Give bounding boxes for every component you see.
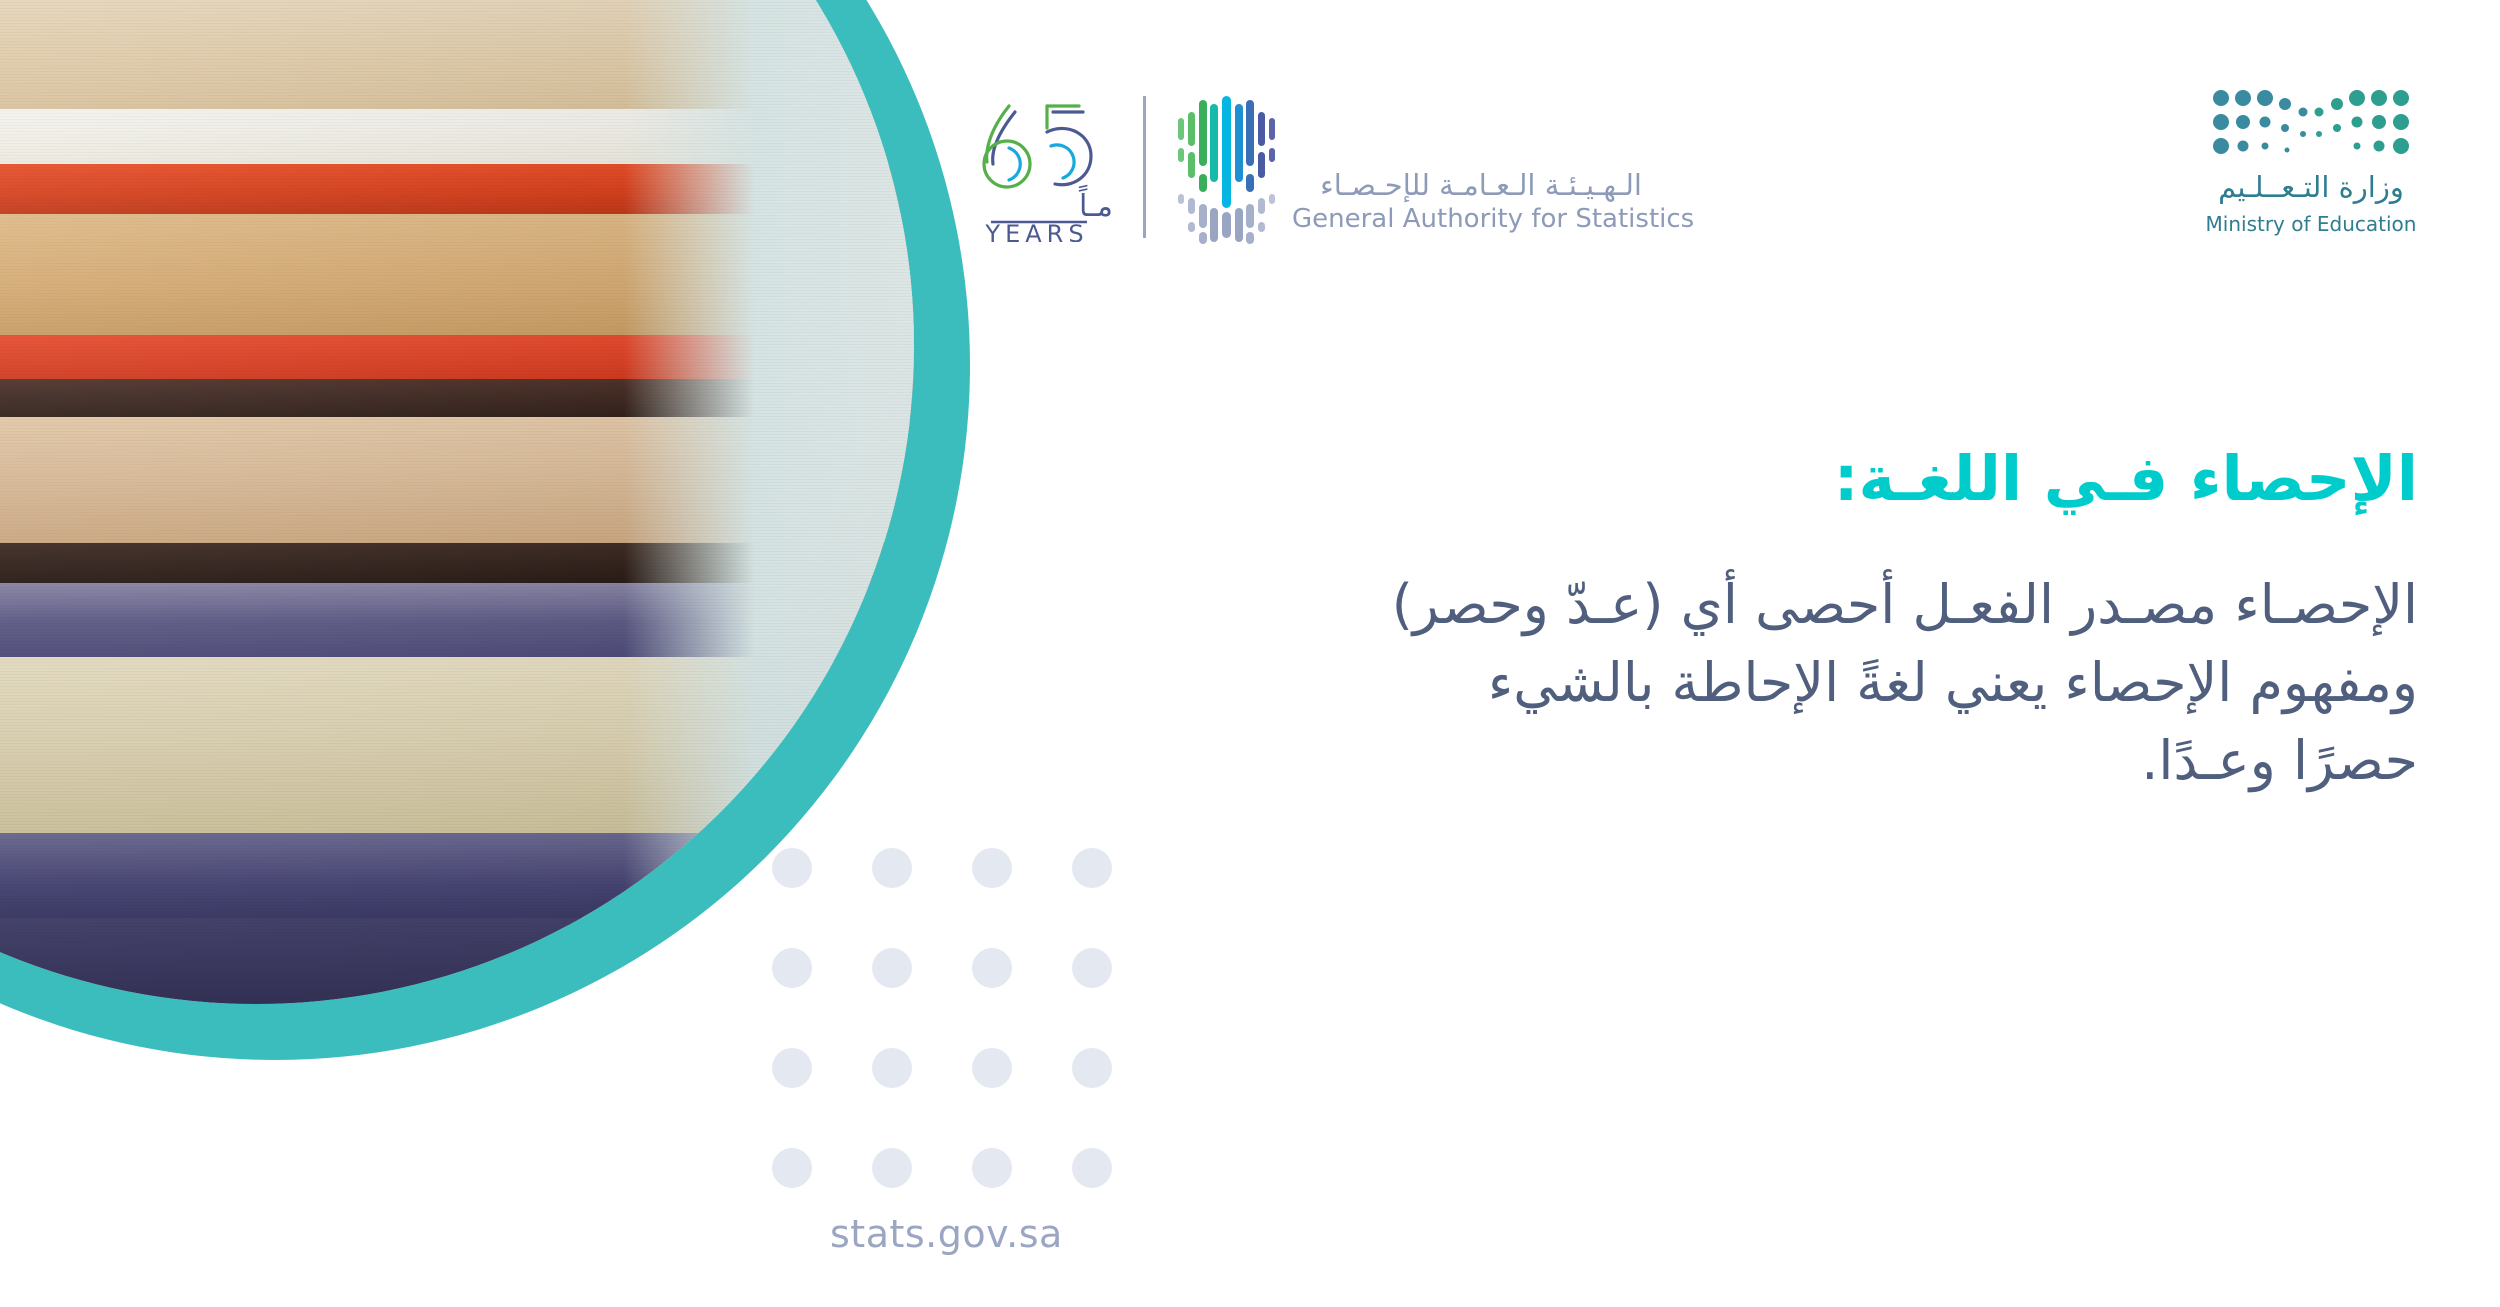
grid-dot	[972, 1148, 1012, 1188]
moe-english-name: Ministry of Education	[2205, 212, 2417, 236]
poster-canvas: عـامـاً YEARS	[0, 0, 2500, 1307]
grid-dot	[772, 848, 812, 888]
65-years-mark-icon: عـامـاً YEARS	[975, 92, 1115, 242]
paragraph-line: حصرًا وعـدًا.	[1288, 722, 2418, 800]
grid-dot	[872, 1148, 912, 1188]
logo-header: عـامـاً YEARS	[0, 0, 2500, 280]
grid-dot	[772, 1148, 812, 1188]
website-url[interactable]: stats.gov.sa	[830, 1212, 1063, 1256]
gastat-bars-icon	[1168, 86, 1284, 256]
paragraph-line: ومفهوم الإحصاء يعني لغةً الإحاطة بالشيء	[1288, 644, 2418, 722]
grid-dot	[1072, 1048, 1112, 1088]
moe-palm-dots-icon	[2211, 88, 2411, 160]
grid-dot	[872, 1048, 912, 1088]
grid-dot	[972, 848, 1012, 888]
grid-dot	[972, 948, 1012, 988]
text-content-block: الإحصاء فـي اللغـة: الإحصـاء مصـدر الفعـ…	[1288, 440, 2418, 800]
grid-dot	[872, 848, 912, 888]
moe-arabic-name: وزارة التـعــلـيم	[2205, 170, 2417, 204]
svg-text:عـامـاً: عـامـاً	[1079, 184, 1115, 224]
decorative-dot-grid	[742, 818, 1142, 1218]
grid-dot	[1072, 848, 1112, 888]
gastat-logo: الـهـيـئـة الـعـامـة للإحـصـاء General A…	[1168, 86, 1648, 256]
paragraph-line: الإحصـاء مصـدر الفعـل أحصى أي (عـدّ وحصر…	[1288, 566, 2418, 644]
grid-dot	[1072, 1148, 1112, 1188]
grid-dot	[972, 1048, 1012, 1088]
gastat-english-name: General Authority for Statistics	[1292, 204, 1642, 235]
svg-text:YEARS: YEARS	[984, 220, 1088, 242]
grid-dot	[772, 1048, 812, 1088]
grid-dot	[1072, 948, 1112, 988]
body-paragraph: الإحصـاء مصـدر الفعـل أحصى أي (عـدّ وحصر…	[1288, 566, 2418, 801]
gastat-wordmark: الـهـيـئـة الـعـامـة للإحـصـاء General A…	[1292, 168, 1642, 235]
logo-divider	[1143, 96, 1146, 238]
ministry-of-education-logo: وزارة التـعــلـيم Ministry of Education	[2205, 88, 2417, 248]
gastat-arabic-name: الـهـيـئـة الـعـامـة للإحـصـاء	[1292, 168, 1642, 202]
grid-dot	[872, 948, 912, 988]
page-title: الإحصاء فـي اللغـة:	[1288, 440, 2418, 518]
grid-dot	[772, 948, 812, 988]
65-years-logo: عـامـاً YEARS	[975, 92, 1115, 242]
